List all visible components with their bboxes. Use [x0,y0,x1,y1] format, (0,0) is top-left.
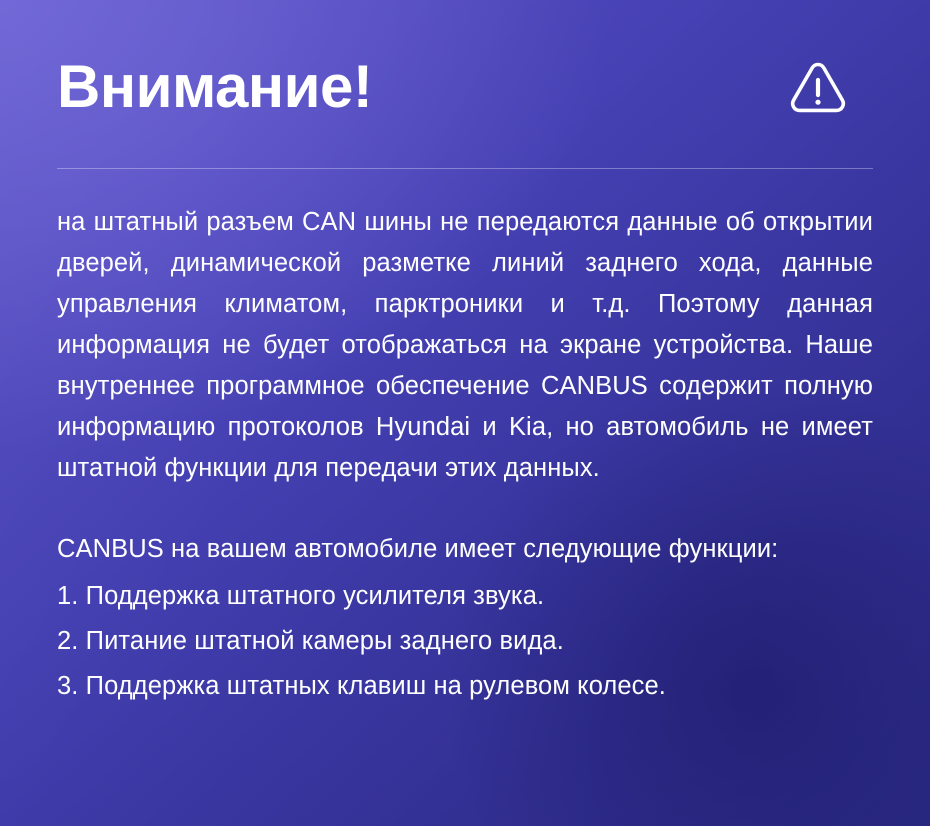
page-title: Внимание! [57,57,372,117]
warning-banner: Внимание! на штатный разъем CAN шины не … [0,0,930,826]
list-item: 1. Поддержка штатного усилителя звука. [57,574,873,619]
list-item: 3. Поддержка штатных клавиш на рулевом к… [57,664,873,709]
banner-body: на штатный разъем CAN шины не передаются… [0,202,930,709]
warning-triangle-icon [786,55,850,119]
features-list: 1. Поддержка штатного усилителя звука. 2… [57,574,873,709]
header-divider [57,168,873,169]
paragraph-can-limitations: на штатный разъем CAN шины не передаются… [57,202,873,489]
features-intro-text: CANBUS на вашем автомобиле имеет следующ… [57,529,873,570]
banner-header-area: Внимание! [0,0,930,168]
header-row: Внимание! [57,0,873,168]
list-item: 2. Питание штатной камеры заднего вида. [57,619,873,664]
